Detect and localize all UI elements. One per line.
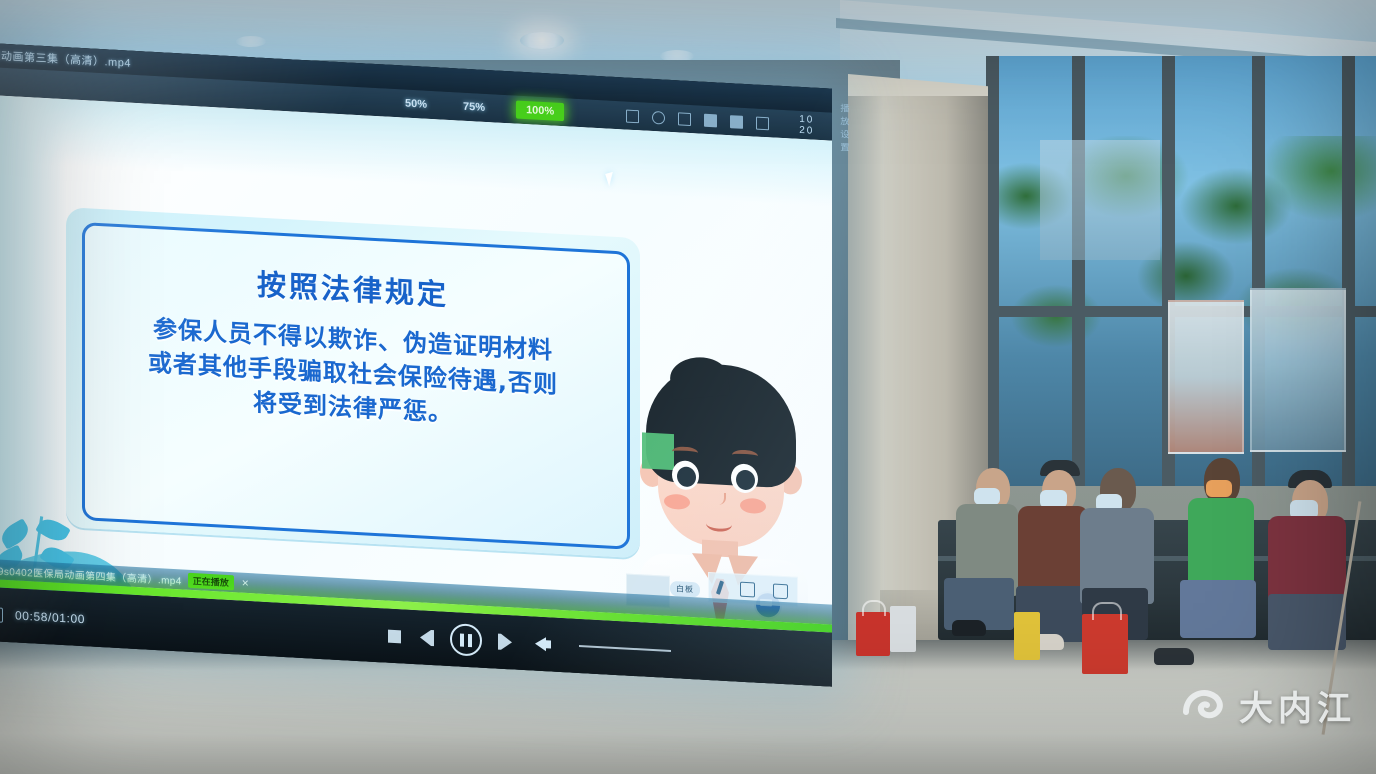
person-shoe bbox=[952, 620, 986, 636]
shopping-bag bbox=[890, 606, 916, 652]
wall-poster bbox=[1168, 300, 1244, 454]
whiteboard-chip[interactable]: 白板 bbox=[670, 581, 700, 598]
previous-button[interactable] bbox=[420, 629, 431, 646]
zoom-100-button[interactable]: 100% bbox=[516, 101, 564, 122]
volume-button[interactable] bbox=[535, 637, 546, 652]
video-stage[interactable]: 按照法律规定 参保人员不得以欺诈、伪造证明材料 或者其他手段骗取社会保险待遇,否… bbox=[0, 94, 832, 633]
person-shoe bbox=[1154, 648, 1194, 665]
zoom-50-button[interactable]: 50% bbox=[400, 95, 432, 113]
bag-handle bbox=[1092, 602, 1122, 620]
lock-icon[interactable] bbox=[773, 583, 788, 599]
loop-icon[interactable] bbox=[652, 110, 665, 124]
grid-icon[interactable] bbox=[678, 112, 691, 126]
volume-slider[interactable] bbox=[579, 645, 671, 652]
display-icon[interactable] bbox=[0, 606, 3, 622]
transport-controls[interactable] bbox=[388, 620, 671, 667]
toolbar-counter: 10 20 bbox=[799, 114, 814, 137]
ceiling-downlight bbox=[520, 32, 564, 49]
face-mask-icon bbox=[974, 488, 1000, 505]
control-bar-left: 00:58/01:00 bbox=[0, 606, 85, 627]
shopping-bag bbox=[1014, 612, 1040, 660]
scene-root: 医保动画第三集（高清）.mp4 50% 75% 100% 10 20 播放 bbox=[0, 0, 1376, 774]
toolbar-settings-label[interactable]: 播放设置 bbox=[840, 101, 849, 153]
wall-poster bbox=[1040, 140, 1160, 260]
pen-icon[interactable] bbox=[716, 580, 724, 595]
zoom-level-group[interactable]: 50% 75% 100% bbox=[400, 94, 564, 121]
square-icon[interactable] bbox=[740, 581, 755, 597]
playback-time: 00:58/01:00 bbox=[15, 608, 85, 626]
close-icon[interactable]: × bbox=[242, 576, 249, 590]
ceiling-downlight bbox=[236, 36, 266, 47]
layers-icon[interactable] bbox=[730, 115, 743, 129]
projection-screen[interactable]: 医保动画第三集（高清）.mp4 50% 75% 100% 10 20 播放 bbox=[0, 42, 832, 687]
zoom-75-button[interactable]: 75% bbox=[458, 98, 490, 116]
toolbar-icon-group[interactable] bbox=[626, 109, 769, 130]
media-player-window[interactable]: 医保动画第三集（高清）.mp4 50% 75% 100% 10 20 播放 bbox=[0, 42, 832, 687]
person-legs bbox=[1180, 580, 1256, 638]
face-mask-icon bbox=[1206, 480, 1232, 497]
text-icon[interactable] bbox=[756, 116, 769, 130]
bag-handle bbox=[862, 600, 886, 616]
frame-icon[interactable] bbox=[704, 113, 717, 127]
shopping-bag bbox=[1082, 614, 1128, 674]
pause-button[interactable] bbox=[450, 623, 482, 657]
broadcaster-name: 大内江 bbox=[1239, 681, 1356, 730]
broadcaster-logo-icon bbox=[1183, 686, 1229, 726]
list-icon[interactable] bbox=[626, 109, 639, 123]
player-filename: 医保动画第三集（高清）.mp4 bbox=[0, 46, 131, 70]
wall-poster bbox=[1250, 288, 1346, 452]
now-playing-badge: 正在播放 bbox=[188, 572, 234, 589]
shopping-bag bbox=[856, 612, 890, 656]
channel-watermark: 大内江 bbox=[1183, 681, 1356, 730]
person-legs bbox=[1268, 594, 1346, 650]
window-mullion bbox=[1072, 56, 1085, 486]
stop-button[interactable] bbox=[388, 629, 401, 643]
green-artifact bbox=[642, 432, 674, 470]
next-button[interactable] bbox=[501, 634, 512, 651]
